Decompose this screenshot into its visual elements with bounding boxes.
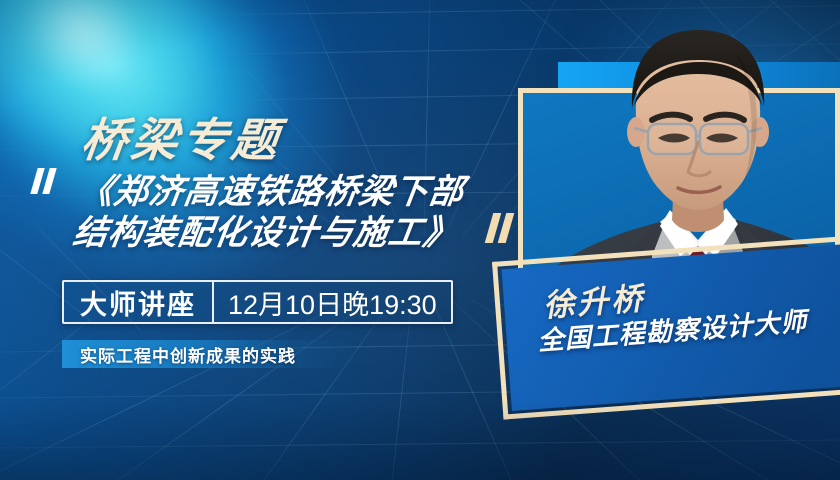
quote-bar-2 xyxy=(42,168,56,194)
promo-poster: 徐升桥 全国工程勘察设计大师 桥梁专题 《郑济高速铁路桥梁下部 结构装配化设计与… xyxy=(0,0,840,480)
speaker-nameplate: 徐升桥 全国工程勘察设计大师 xyxy=(492,236,840,432)
tagline-badge: 实际工程中创新成果的实践 xyxy=(62,340,352,368)
page-title: 桥梁专题 xyxy=(78,104,286,170)
subject-line-2: 结构装配化设计与施工》 xyxy=(70,213,506,254)
lecture-label: 大师讲座 xyxy=(64,282,212,322)
subject-line-1: 《郑济高速铁路桥梁下部 xyxy=(76,172,512,213)
quote-bar-4 xyxy=(498,213,515,243)
lecture-subject: 《郑济高速铁路桥梁下部 结构装配化设计与施工》 xyxy=(70,172,512,255)
lecture-info-box: 大师讲座 12月10日晚19:30 xyxy=(62,280,453,324)
tagline-text: 实际工程中创新成果的实践 xyxy=(62,342,296,367)
lecture-datetime: 12月10日晚19:30 xyxy=(214,282,451,322)
